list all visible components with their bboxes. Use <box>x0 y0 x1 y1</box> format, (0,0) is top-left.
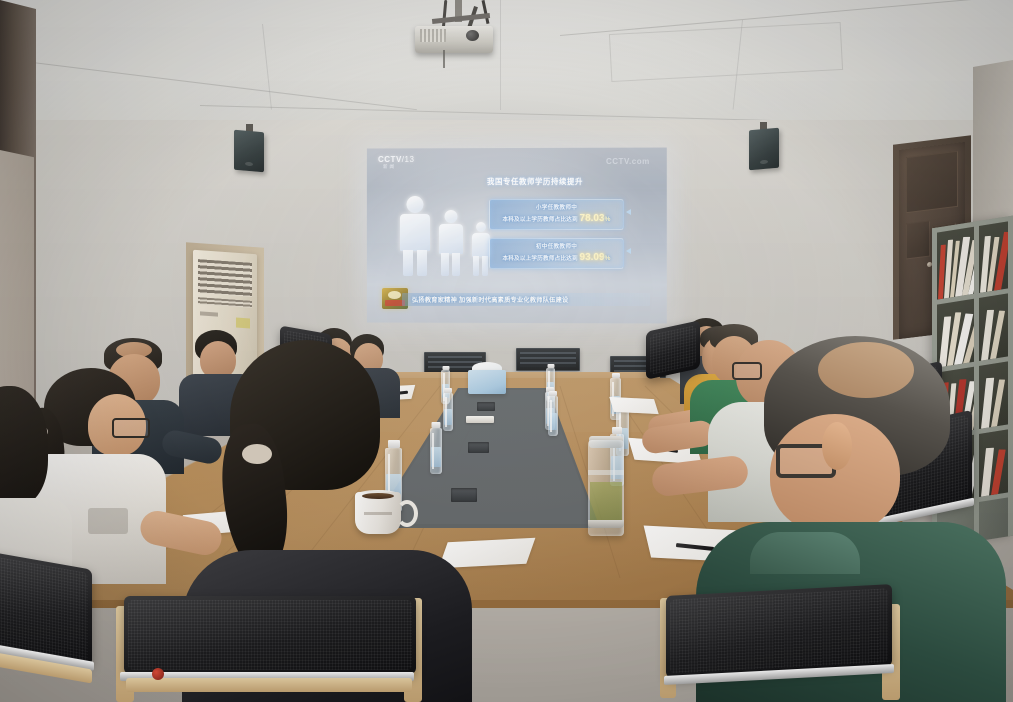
cctv-watermark: CCTV.com <box>606 157 650 166</box>
stat-primary-line1: 小学任教教师中 <box>490 203 623 211</box>
person-pictogram-large <box>398 196 432 276</box>
remote-control[interactable] <box>466 416 494 423</box>
chair-foreground-right[interactable] <box>660 590 900 702</box>
tea-flask-ring <box>588 470 624 475</box>
projector-wire <box>443 50 445 68</box>
water-bottle[interactable] <box>430 428 442 474</box>
coffee-mug-handle <box>396 500 418 527</box>
stat-box-primary: 小学任教教师中 本科及以上学历教师占比达到 78.03% <box>489 199 624 230</box>
eyeglasses <box>112 418 150 438</box>
eyeglasses <box>732 362 762 380</box>
ear <box>822 422 852 470</box>
water-bottle[interactable] <box>443 393 453 431</box>
coffee-mug-contents <box>362 493 394 499</box>
stat-arrow-primary <box>626 209 631 215</box>
table-power-port-1[interactable] <box>477 402 495 411</box>
stat-secondary-value: 93.09 <box>580 252 605 263</box>
scalp <box>818 342 914 398</box>
meeting-room-photo: CCTV/13 新闻 CCTV.com 我国专任教师学历持续提升 小学任教教师中… <box>0 0 1013 702</box>
stat-primary-value: 78.03 <box>580 213 605 224</box>
shirt-print <box>88 508 128 534</box>
air-conditioner-grille <box>198 259 252 297</box>
cctv-logo-text: CCTV <box>378 155 402 164</box>
collar <box>750 532 860 574</box>
table-power-port-2[interactable] <box>468 442 489 453</box>
air-conditioner-label <box>236 318 250 329</box>
person-pictogram-small <box>470 222 491 276</box>
cctv-channel-logo: CCTV/13 <box>378 155 414 164</box>
wall-speaker-right <box>749 128 779 171</box>
wall-speaker-left <box>234 130 264 173</box>
stat-box-secondary: 初中任教教师中 本科及以上学历教师占比达到 93.09% <box>489 238 624 269</box>
water-bottle[interactable] <box>548 396 558 436</box>
projector-vent <box>420 29 446 42</box>
door-panel-lower-left <box>906 221 930 260</box>
cctv-channel-number: 13 <box>405 155 415 164</box>
tissue-box[interactable] <box>468 370 506 394</box>
stat-secondary-line2: 本科及以上学历教师占比达到 93.09% <box>490 252 623 263</box>
person-pictogram-medium <box>437 210 464 276</box>
stat-primary-line2: 本科及以上学历教师占比达到 78.03% <box>490 213 623 224</box>
broadcast-ticker-text: 弘扬教育家精神 加强新时代高素质专业化教师队伍建设 <box>412 295 568 304</box>
broadcast-ticker: 弘扬教育家精神 加强新时代高素质专业化教师队伍建设 <box>402 293 650 306</box>
coffee-mug-print <box>364 512 392 515</box>
notepad[interactable] <box>439 538 536 568</box>
broadcast-headline: 我国专任教师学历持续提升 <box>440 176 630 187</box>
projector-lens <box>466 30 479 41</box>
hair-tie <box>242 444 272 464</box>
tea-flask-base <box>588 520 624 528</box>
chair-foreground-left[interactable] <box>116 596 422 702</box>
stat-secondary-unit: % <box>605 255 611 262</box>
table-power-port-3[interactable] <box>451 488 477 502</box>
cctv-channel-name: 新闻 <box>383 164 396 170</box>
chair-knob[interactable] <box>152 668 164 680</box>
notepad[interactable] <box>609 397 658 414</box>
door-panel-upper <box>906 151 958 213</box>
stat-secondary-line1: 初中任教教师中 <box>490 242 623 250</box>
stat-arrow-secondary <box>626 248 631 254</box>
chair-far-right[interactable] <box>646 326 706 382</box>
chair-left-side[interactable] <box>0 560 106 702</box>
stat-primary-unit: % <box>605 216 611 223</box>
